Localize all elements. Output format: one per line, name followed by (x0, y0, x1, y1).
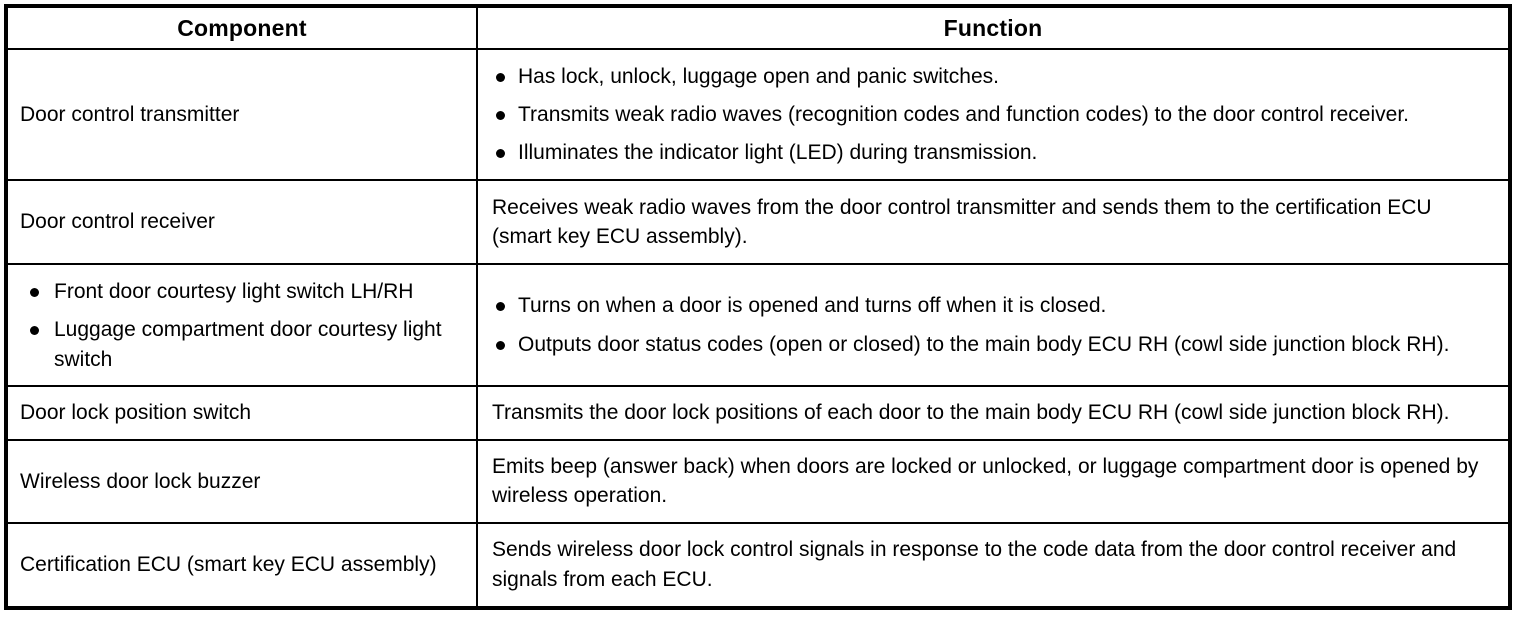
list-item: Luggage compartment door courtesy light … (20, 315, 462, 374)
function-cell-content: Receives weak radio waves from the door … (478, 183, 1508, 263)
cell-component: Door control receiver (8, 180, 477, 264)
function-bullet-list: Turns on when a door is opened and turns… (492, 291, 1494, 359)
header-label-component: Component (8, 15, 476, 42)
component-bullet-list: Front door courtesy light switch LH/RHLu… (20, 277, 462, 374)
list-item-text: Turns on when a door is opened and turns… (518, 294, 1106, 317)
function-cell-content: Transmits the door lock positions of eac… (478, 388, 1508, 438)
component-cell-content: Front door courtesy light switch LH/RHLu… (8, 267, 476, 384)
table-header: Component Function (8, 8, 1508, 49)
table-row: Door control transmitterHas lock, unlock… (8, 49, 1508, 180)
cell-component: Door control transmitter (8, 49, 477, 180)
table-row: Door lock position switchTransmits the d… (8, 386, 1508, 439)
component-cell-content: Door control transmitter (8, 90, 476, 140)
list-item-text: Illuminates the indicator light (LED) du… (518, 141, 1037, 164)
bullet-icon (30, 288, 39, 297)
header-label-function: Function (478, 15, 1508, 42)
table-body: Door control transmitterHas lock, unlock… (8, 49, 1508, 606)
cell-component: Front door courtesy light switch LH/RHLu… (8, 264, 477, 386)
table-row: Door control receiverReceives weak radio… (8, 180, 1508, 264)
function-cell-content: Has lock, unlock, luggage open and panic… (478, 52, 1508, 178)
function-text: Emits beep (answer back) when doors are … (492, 452, 1494, 512)
list-item: Turns on when a door is opened and turns… (492, 291, 1494, 320)
list-item: Illuminates the indicator light (LED) du… (492, 138, 1494, 167)
component-cell-content: Door control receiver (8, 197, 476, 247)
spec-table-frame: Component Function Door control transmit… (4, 4, 1512, 610)
table-row: Wireless door lock buzzerEmits beep (ans… (8, 440, 1508, 524)
cell-component: Wireless door lock buzzer (8, 440, 477, 524)
component-text: Door control receiver (20, 207, 462, 237)
bullet-icon (496, 73, 505, 82)
list-item: Outputs door status codes (open or close… (492, 330, 1494, 359)
table-row: Certification ECU (smart key ECU assembl… (8, 523, 1508, 606)
component-text: Wireless door lock buzzer (20, 467, 462, 497)
function-text: Transmits the door lock positions of eac… (492, 398, 1494, 428)
component-cell-content: Certification ECU (smart key ECU assembl… (8, 540, 476, 590)
cell-function: Sends wireless door lock control signals… (477, 523, 1508, 606)
header-cell-function: Function (477, 8, 1508, 49)
cell-component: Door lock position switch (8, 386, 477, 439)
bullet-icon (30, 326, 39, 335)
list-item-text: Front door courtesy light switch LH/RH (54, 280, 413, 303)
list-item-text: Luggage compartment door courtesy light … (54, 318, 442, 370)
list-item: Has lock, unlock, luggage open and panic… (492, 62, 1494, 91)
cell-function: Emits beep (answer back) when doors are … (477, 440, 1508, 524)
table-row: Front door courtesy light switch LH/RHLu… (8, 264, 1508, 386)
component-text: Certification ECU (smart key ECU assembl… (20, 550, 462, 580)
bullet-icon (496, 149, 505, 158)
bullet-icon (496, 341, 505, 350)
cell-function: Receives weak radio waves from the door … (477, 180, 1508, 264)
component-function-table: Component Function Door control transmit… (8, 8, 1508, 606)
list-item: Transmits weak radio waves (recognition … (492, 100, 1494, 129)
bullet-icon (496, 302, 505, 311)
list-item-text: Has lock, unlock, luggage open and panic… (518, 65, 999, 88)
component-cell-content: Wireless door lock buzzer (8, 457, 476, 507)
header-cell-component: Component (8, 8, 477, 49)
cell-component: Certification ECU (smart key ECU assembl… (8, 523, 477, 606)
list-item-text: Outputs door status codes (open or close… (518, 333, 1449, 356)
list-item: Front door courtesy light switch LH/RH (20, 277, 462, 306)
component-text: Door lock position switch (20, 398, 462, 428)
function-cell-content: Turns on when a door is opened and turns… (478, 281, 1508, 369)
function-cell-content: Emits beep (answer back) when doors are … (478, 442, 1508, 522)
function-bullet-list: Has lock, unlock, luggage open and panic… (492, 62, 1494, 168)
function-cell-content: Sends wireless door lock control signals… (478, 525, 1508, 605)
function-text: Sends wireless door lock control signals… (492, 535, 1494, 595)
bullet-icon (496, 111, 505, 120)
component-text: Door control transmitter (20, 100, 462, 130)
cell-function: Has lock, unlock, luggage open and panic… (477, 49, 1508, 180)
cell-function: Turns on when a door is opened and turns… (477, 264, 1508, 386)
list-item-text: Transmits weak radio waves (recognition … (518, 103, 1409, 126)
function-text: Receives weak radio waves from the door … (492, 193, 1494, 253)
component-cell-content: Door lock position switch (8, 388, 476, 438)
header-row: Component Function (8, 8, 1508, 49)
cell-function: Transmits the door lock positions of eac… (477, 386, 1508, 439)
